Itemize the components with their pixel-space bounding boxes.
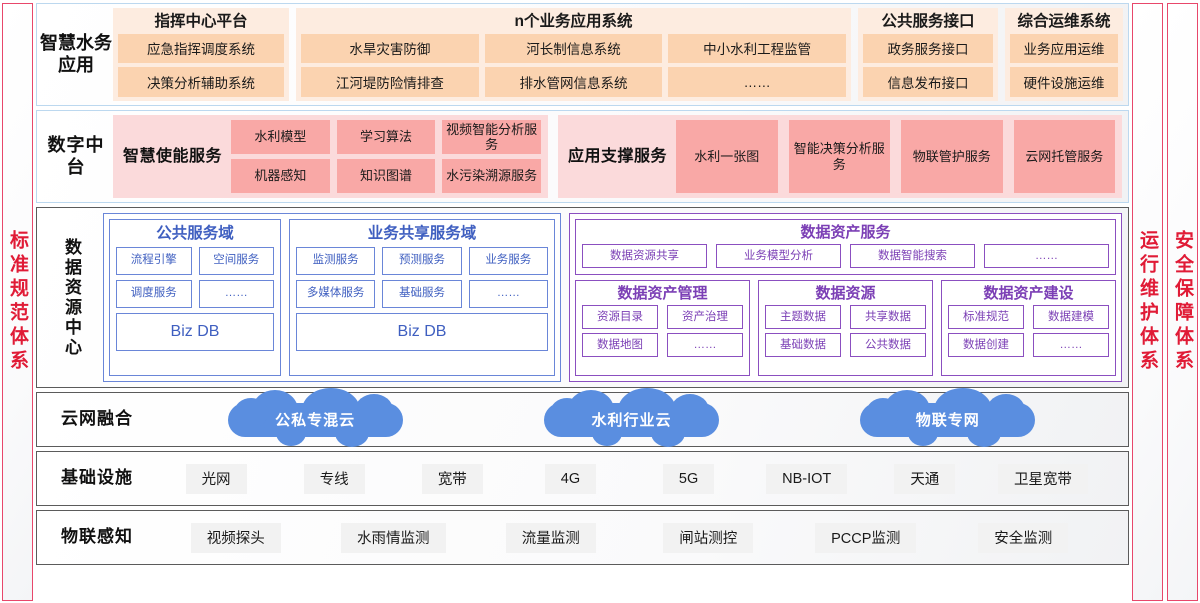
infrastructure-item[interactable]: 5G (663, 464, 714, 494)
app-group-command-center: 指挥中心平台 应急指挥调度系统 决策分析辅助系统 (113, 8, 289, 101)
mid-group-smart-enablement: 智慧使能服务 水利模型 机器感知 学习算法 知识图谱 视频智能分 (113, 115, 548, 198)
app-item[interactable]: 中小水利工程监管 (668, 34, 846, 64)
cloud-icon: 公私专混云 (228, 403, 403, 437)
asset-item[interactable]: 数据建模 (1033, 305, 1109, 329)
mid-group-title: 应用支撑服务 (565, 120, 676, 193)
domain-row: 流程引擎 空间服务 (116, 247, 274, 275)
asset-row: 基础数据 公共数据 (765, 333, 926, 357)
cloud-label: 水利行业云 (591, 409, 671, 430)
app-group-title: 综合运维系统 (1010, 11, 1118, 34)
asset-title: 数据资源 (765, 284, 926, 305)
app-group-business-systems: n个业务应用系统 水旱灾害防御 河长制信息系统 中小水利工程监管 江河堤防险情排… (296, 8, 851, 101)
layer-data-center-body: 公共服务域 流程引擎 空间服务 调度服务 …… (103, 213, 1122, 382)
app-item-ellipsis[interactable]: …… (668, 67, 846, 97)
domain-business-shared-service: 业务共享服务域 监测服务 预测服务 业务服务 多媒体服务 基础服务 (289, 219, 555, 376)
pillar-operations-label: 运行维护体系 (1138, 230, 1157, 374)
asset-title: 数据资产管理 (582, 284, 743, 305)
asset-title: 数据资产建设 (948, 284, 1109, 305)
cloud-item[interactable]: 物联专网 (790, 399, 1106, 441)
asset-row: 标准规范 数据建模 (948, 305, 1109, 329)
domain-item[interactable]: 基础服务 (382, 280, 461, 308)
domain-title: 业务共享服务域 (296, 224, 548, 247)
domain-title: 公共服务域 (116, 224, 274, 247)
mid-group-application-support: 应用支撑服务 水利一张图 智能决策分析服务 物联管护服务 云网托管服务 (558, 115, 1122, 198)
cloud-item[interactable]: 水利行业云 (473, 399, 789, 441)
pillar-security-label: 安全保障体系 (1173, 230, 1192, 374)
cloud-item[interactable]: 公私专混云 (157, 399, 473, 441)
app-item[interactable]: 硬件设施运维 (1010, 67, 1118, 97)
app-row: 业务应用运维 (1010, 34, 1118, 64)
infrastructure-item[interactable]: 专线 (304, 464, 365, 494)
asset-item-ellipsis[interactable]: …… (667, 333, 743, 357)
iot-item[interactable]: 水雨情监测 (341, 523, 446, 553)
app-item[interactable]: 应急指挥调度系统 (118, 34, 284, 64)
asset-row: 主题数据 共享数据 (765, 305, 926, 329)
asset-item[interactable]: 数据创建 (948, 333, 1024, 357)
asset-item[interactable]: 主题数据 (765, 305, 841, 329)
layer-middle-platform-body: 智慧使能服务 水利模型 机器感知 学习算法 知识图谱 视频智能分 (113, 115, 1122, 198)
domain-item[interactable]: 调度服务 (116, 280, 192, 308)
layer-iot-sensing: 物联感知 视频探头 水雨情监测 流量监测 闸站测控 PCCP监测 安全监测 (36, 510, 1129, 565)
app-item[interactable]: 江河堤防险情排查 (301, 67, 479, 97)
asset-row: 资源目录 资产治理 (582, 305, 743, 329)
asset-item[interactable]: 公共数据 (850, 333, 926, 357)
layer-iot-body: 视频探头 水雨情监测 流量监测 闸站测控 PCCP监测 安全监测 (157, 511, 1128, 564)
asset-item[interactable]: 资源目录 (582, 305, 658, 329)
asset-row: 数据资源共享 业务模型分析 数据智能搜索 …… (582, 244, 1109, 268)
domain-item-ellipsis[interactable]: …… (469, 280, 548, 308)
iot-item[interactable]: PCCP监测 (815, 523, 916, 553)
mid-column: 学习算法 知识图谱 (337, 120, 436, 193)
app-item[interactable]: 决策分析辅助系统 (118, 67, 284, 97)
domain-item[interactable]: 多媒体服务 (296, 280, 375, 308)
domain-item[interactable]: 业务服务 (469, 247, 548, 275)
asset-item[interactable]: 资产治理 (667, 305, 743, 329)
asset-row: 数据地图 …… (582, 333, 743, 357)
layer-middle-platform-label: 数字中台 (39, 115, 113, 198)
asset-item[interactable]: 标准规范 (948, 305, 1024, 329)
support-item[interactable]: 智能决策分析服务 (789, 120, 891, 193)
cloud-icon: 水利行业云 (544, 403, 719, 437)
pillar-standards-system: 标准规范体系 (2, 3, 33, 601)
asset-item[interactable]: 共享数据 (850, 305, 926, 329)
cloud-icon: 物联专网 (860, 403, 1035, 437)
mid-item[interactable]: 知识图谱 (337, 159, 436, 193)
cloud-label: 物联专网 (916, 409, 980, 430)
pillar-operations-maintenance-system: 运行维护体系 (1132, 3, 1163, 601)
data-asset-service: 数据资产服务 数据资源共享 业务模型分析 数据智能搜索 …… (575, 219, 1116, 275)
layer-stack: 智慧水务应用 指挥中心平台 应急指挥调度系统 决策分析辅助系统 (36, 3, 1129, 601)
mid-group-title: 智慧使能服务 (120, 120, 231, 193)
layer-iot-label: 物联感知 (37, 511, 157, 564)
layer-application-body: 指挥中心平台 应急指挥调度系统 决策分析辅助系统 n个业务应用系统 (113, 8, 1123, 101)
domain-item[interactable]: 监测服务 (296, 247, 375, 275)
app-item[interactable]: 排水管网信息系统 (485, 67, 663, 97)
layer-cloud-label: 云网融合 (37, 393, 157, 446)
app-row: 应急指挥调度系统 (118, 34, 284, 64)
app-row: 信息发布接口 (863, 67, 993, 97)
pillar-standards-label: 标准规范体系 (8, 230, 27, 374)
mid-item[interactable]: 机器感知 (231, 159, 330, 193)
support-item[interactable]: 水利一张图 (676, 120, 778, 193)
layer-infrastructure: 基础设施 光网 专线 宽带 4G 5G NB-IOT 天通 卫星宽带 (36, 451, 1129, 506)
data-asset-management: 数据资产管理 资源目录 资产治理 数据地图 …… (575, 280, 750, 376)
infrastructure-item[interactable]: NB-IOT (766, 464, 847, 494)
app-row: 硬件设施运维 (1010, 67, 1118, 97)
mid-item[interactable]: 视频智能分析服务 (442, 120, 541, 154)
asset-item[interactable]: 业务模型分析 (716, 244, 841, 268)
domain-item[interactable]: 流程引擎 (116, 247, 192, 275)
mid-item[interactable]: 水利模型 (231, 120, 330, 154)
mid-item[interactable]: 学习算法 (337, 120, 436, 154)
data-resources: 数据资源 主题数据 共享数据 基础数据 公共数据 (758, 280, 933, 376)
iot-item[interactable]: 视频探头 (191, 523, 281, 553)
asset-item[interactable]: 数据资源共享 (582, 244, 707, 268)
layer-application-label: 智慧水务应用 (39, 8, 113, 101)
app-group-title: 公共服务接口 (863, 11, 993, 34)
pillar-security-assurance-system: 安全保障体系 (1167, 3, 1198, 601)
layer-cloud-network: 云网融合 公私专混云 水利行业云 (36, 392, 1129, 447)
app-row: 水旱灾害防御 河长制信息系统 中小水利工程监管 (301, 34, 846, 64)
app-group-title: 指挥中心平台 (118, 11, 284, 34)
infrastructure-item[interactable]: 宽带 (422, 464, 483, 494)
asset-item[interactable]: 基础数据 (765, 333, 841, 357)
mid-item[interactable]: 水污染溯源服务 (442, 159, 541, 193)
app-row: 江河堤防险情排查 排水管网信息系统 …… (301, 67, 846, 97)
mid-column: 水利模型 机器感知 (231, 120, 330, 193)
app-row: 政务服务接口 (863, 34, 993, 64)
asset-row: 数据创建 …… (948, 333, 1109, 357)
iot-item[interactable]: 流量监测 (506, 523, 596, 553)
infrastructure-item[interactable]: 天通 (894, 464, 955, 494)
app-item[interactable]: 业务应用运维 (1010, 34, 1118, 64)
infrastructure-item[interactable]: 4G (545, 464, 596, 494)
domain-row: 监测服务 预测服务 业务服务 (296, 247, 548, 275)
mid-column: 视频智能分析服务 水污染溯源服务 (442, 120, 541, 193)
layer-infrastructure-body: 光网 专线 宽带 4G 5G NB-IOT 天通 卫星宽带 (157, 452, 1128, 505)
asset-title: 数据资产服务 (582, 223, 1109, 244)
app-item[interactable]: 水旱灾害防御 (301, 34, 479, 64)
asset-item[interactable]: 数据地图 (582, 333, 658, 357)
layer-data-resource-center: 数据资源中心 公共服务域 流程引擎 空间服务 调 (36, 207, 1129, 388)
domain-row: 多媒体服务 基础服务 …… (296, 280, 548, 308)
domain-item-ellipsis[interactable]: …… (199, 280, 275, 308)
app-item[interactable]: 河长制信息系统 (485, 34, 663, 64)
app-group-operations-system: 综合运维系统 业务应用运维 硬件设施运维 (1005, 8, 1123, 101)
app-group-title: n个业务应用系统 (301, 11, 846, 34)
iot-item[interactable]: 安全监测 (978, 523, 1068, 553)
data-asset-container: 数据资产服务 数据资源共享 业务模型分析 数据智能搜索 …… 数据资产管理 (569, 213, 1122, 382)
data-asset-construction: 数据资产建设 标准规范 数据建模 数据创建 …… (941, 280, 1116, 376)
support-item[interactable]: 物联管护服务 (901, 120, 1003, 193)
service-domains-container: 公共服务域 流程引擎 空间服务 调度服务 …… (103, 213, 561, 382)
layer-cloud-body: 公私专混云 水利行业云 物联专网 (157, 393, 1128, 446)
domain-database[interactable]: Biz DB (296, 313, 548, 351)
iot-item[interactable]: 闸站测控 (663, 523, 753, 553)
domain-row: 调度服务 …… (116, 280, 274, 308)
right-pillars: 运行维护体系 安全保障体系 (1132, 3, 1198, 601)
app-item[interactable]: 信息发布接口 (863, 67, 993, 97)
app-group-public-service-interface: 公共服务接口 政务服务接口 信息发布接口 (858, 8, 998, 101)
asset-item[interactable]: 数据智能搜索 (850, 244, 975, 268)
architecture-diagram: 标准规范体系 智慧水务应用 指挥中心平台 应急指挥调度系统 决策分析辅助系统 (0, 0, 1200, 603)
domain-item[interactable]: 预测服务 (382, 247, 461, 275)
cloud-label: 公私专混云 (275, 409, 355, 430)
layer-data-center-label: 数据资源中心 (39, 213, 103, 382)
domain-item[interactable]: 空间服务 (199, 247, 275, 275)
layer-infrastructure-label: 基础设施 (37, 452, 157, 505)
support-item[interactable]: 云网托管服务 (1014, 120, 1116, 193)
infrastructure-item[interactable]: 卫星宽带 (998, 464, 1088, 494)
domain-public-service: 公共服务域 流程引擎 空间服务 调度服务 …… (109, 219, 281, 376)
app-item[interactable]: 政务服务接口 (863, 34, 993, 64)
domain-database[interactable]: Biz DB (116, 313, 274, 351)
asset-item-ellipsis[interactable]: …… (1033, 333, 1109, 357)
infrastructure-item[interactable]: 光网 (186, 464, 247, 494)
layer-digital-middle-platform: 数字中台 智慧使能服务 水利模型 机器感知 学习算法 知识图谱 (36, 110, 1129, 203)
asset-item-ellipsis[interactable]: …… (984, 244, 1109, 268)
layer-application: 智慧水务应用 指挥中心平台 应急指挥调度系统 决策分析辅助系统 (36, 3, 1129, 106)
app-row: 决策分析辅助系统 (118, 67, 284, 97)
